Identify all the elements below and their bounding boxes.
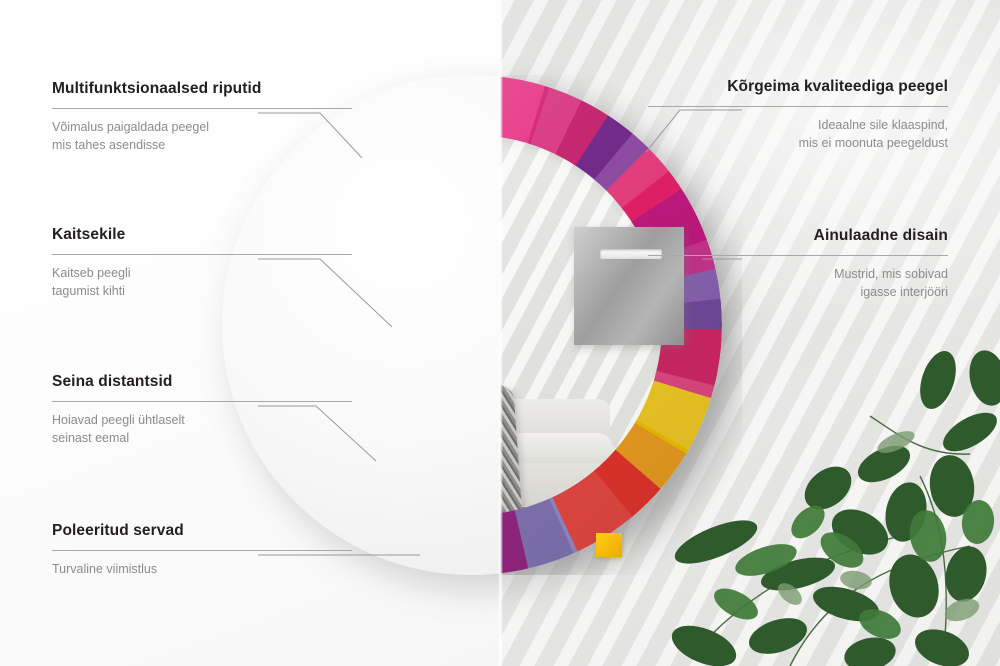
callout-title: Ainulaadne disain bbox=[648, 227, 948, 246]
callout-description-line-2: igasse interjööri bbox=[648, 283, 948, 301]
callout-description-line-2: seinast eemal bbox=[52, 429, 352, 447]
foliage-icon bbox=[670, 336, 1000, 666]
callout-multifunktsionaalsed-riputid[interactable]: Multifunktsionaalsed riputid Võimalus pa… bbox=[52, 80, 352, 154]
callout-title: Kõrgeima kvaliteediga peegel bbox=[648, 78, 948, 97]
callout-poleeritud-servad[interactable]: Poleeritud servad Turvaline viimistlus bbox=[52, 522, 352, 578]
callout-description: Turvaline viimistlus bbox=[52, 560, 352, 578]
decorative-foliage bbox=[670, 336, 1000, 666]
callout-description: Mustrid, mis sobivad igasse interjööri bbox=[648, 265, 948, 301]
callout-seina-distantsid[interactable]: Seina distantsid Hoiavad peegli ühtlasel… bbox=[52, 373, 352, 447]
callout-rule bbox=[52, 254, 352, 255]
callout-rule bbox=[52, 108, 352, 109]
callout-description-line-1: Võimalus paigaldada peegel bbox=[52, 118, 352, 136]
callout-description-line-1: Kaitseb peegli bbox=[52, 264, 352, 282]
callout-description-line-1: Mustrid, mis sobivad bbox=[648, 265, 948, 283]
callout-title: Kaitsekile bbox=[52, 226, 352, 245]
callout-description-line-1: Hoiavad peegli ühtlaselt bbox=[52, 411, 352, 429]
callout-description: Ideaalne sile klaaspind, mis ei moonuta … bbox=[648, 116, 948, 152]
callout-description-line-2: mis tahes asendisse bbox=[52, 136, 352, 154]
callout-rule bbox=[648, 255, 948, 256]
callout-description: Hoiavad peegli ühtlaselt seinast eemal bbox=[52, 411, 352, 447]
callout-rule bbox=[52, 550, 352, 551]
callout-description-line-2: mis ei moonuta peegeldust bbox=[648, 134, 948, 152]
callout-description: Võimalus paigaldada peegel mis tahes ase… bbox=[52, 118, 352, 154]
panel-split-seam bbox=[498, 0, 503, 666]
callout-title: Multifunktsionaalsed riputid bbox=[52, 80, 352, 99]
callout-description-line-1: Turvaline viimistlus bbox=[52, 560, 352, 578]
callout-description-line-2: tagumist kihti bbox=[52, 282, 352, 300]
callout-ainulaadne-disain[interactable]: Ainulaadne disain Mustrid, mis sobivad i… bbox=[648, 227, 948, 301]
wall-spacer-block bbox=[596, 533, 622, 557]
callout-title: Poleeritud servad bbox=[52, 522, 352, 541]
callout-title: Seina distantsid bbox=[52, 373, 352, 392]
callout-kaitsekile[interactable]: Kaitsekile Kaitseb peegli tagumist kihti bbox=[52, 226, 352, 300]
callout-rule bbox=[648, 106, 948, 107]
callout-description: Kaitseb peegli tagumist kihti bbox=[52, 264, 352, 300]
callout-description-line-1: Ideaalne sile klaaspind, bbox=[648, 116, 948, 134]
infographic-canvas: Multifunktsionaalsed riputid Võimalus pa… bbox=[0, 0, 1000, 666]
callout-rule bbox=[52, 401, 352, 402]
callout-korgeima-kvaliteediga-peegel[interactable]: Kõrgeima kvaliteediga peegel Ideaalne si… bbox=[648, 78, 948, 152]
reflected-sofa bbox=[500, 385, 642, 515]
